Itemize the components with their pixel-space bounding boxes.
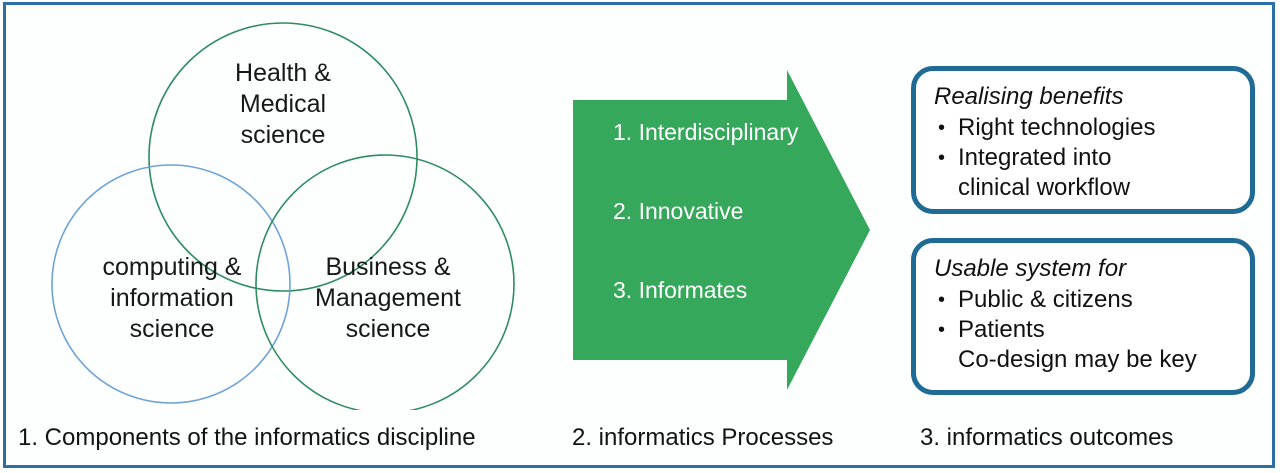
- outcome-box-realising-benefits: Realising benefits Right technologies In…: [911, 66, 1255, 214]
- venn-label-business-management-science: Business & Management science: [278, 252, 498, 345]
- outcome-box-1-item-3: clinical workflow: [934, 173, 1250, 203]
- caption-processes: 2. informatics Processes: [572, 424, 833, 452]
- venn-label-health-medical-science: Health & Medical science: [173, 58, 393, 151]
- outcome-box-1-list: Right technologies Integrated into clini…: [916, 113, 1250, 203]
- caption-components: 1. Components of the informatics discipl…: [18, 424, 476, 452]
- outcome-box-2-item-1: Public & citizens: [934, 285, 1250, 315]
- caption-outcomes: 3. informatics outcomes: [920, 424, 1173, 452]
- arrow-item-1: 1. Interdisciplinary: [613, 118, 863, 146]
- outcome-box-1-title: Realising benefits: [934, 82, 1250, 111]
- outcome-box-2-item-3: Co-design may be key: [934, 345, 1250, 375]
- outcome-box-2-list: Public & citizens Patients Co-design may…: [916, 285, 1250, 375]
- outcome-box-usable-system: Usable system for Public & citizens Pati…: [911, 238, 1255, 395]
- arrow-item-3: 3. Informates: [613, 276, 863, 304]
- informatics-framework-figure: Health & Medical science computing & inf…: [0, 0, 1280, 473]
- venn-diagram-panel: Health & Medical science computing & inf…: [0, 0, 560, 410]
- outcome-box-1-item-2: Integrated into: [934, 143, 1250, 173]
- outcome-box-1-item-1: Right technologies: [934, 113, 1250, 143]
- venn-label-computing-information-science: computing & information science: [62, 252, 282, 345]
- outcome-box-2-item-2: Patients: [934, 315, 1250, 345]
- arrow-item-2: 2. Innovative: [613, 197, 863, 225]
- arrow-process-list: 1. Interdisciplinary 2. Innovative 3. In…: [613, 118, 863, 304]
- outcome-box-2-title: Usable system for: [934, 254, 1250, 283]
- process-arrow-panel: 1. Interdisciplinary 2. Innovative 3. In…: [560, 70, 890, 400]
